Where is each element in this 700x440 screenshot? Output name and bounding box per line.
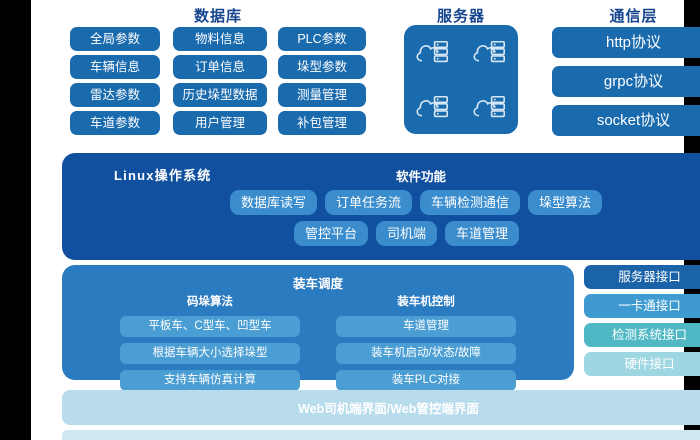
interface-column: 服务器接口 一卡通接口 检测系统接口 硬件接口 — [584, 265, 700, 376]
interface-item-hardware[interactable]: 硬件接口 — [584, 352, 700, 376]
cloud-server-icon — [414, 92, 452, 122]
communication-section-title: 通信层 — [552, 5, 700, 26]
interface-item-detection[interactable]: 检测系统接口 — [584, 323, 700, 347]
scheduling-item[interactable]: 支持车辆仿真计算 — [120, 370, 300, 391]
interface-item-card[interactable]: 一卡通接口 — [584, 294, 700, 318]
database-column-1: 全局参数 车辆信息 雷达参数 车道参数 — [70, 27, 160, 135]
cloud-server-icon — [414, 37, 452, 67]
scheduling-item[interactable]: 装车PLC对接 — [336, 370, 516, 391]
platform-panel: Linux操作系统 软件功能 数据库读写 订单任务流 车辆检测通信 垛型算法 管… — [62, 153, 700, 260]
software-item[interactable]: 垛型算法 — [528, 190, 602, 215]
database-column-2: 物料信息 订单信息 历史垛型数据 用户管理 — [173, 27, 267, 135]
cloud-server-icon — [471, 92, 509, 122]
interface-item-server[interactable]: 服务器接口 — [584, 265, 700, 289]
db-item[interactable]: 车道参数 — [70, 111, 160, 135]
scheduling-item[interactable]: 根据车辆大小选择垛型 — [120, 343, 300, 364]
server-box — [404, 25, 518, 134]
software-function-label: 软件功能 — [396, 166, 446, 185]
scheduling-title: 装车调度 — [62, 273, 574, 292]
software-item[interactable]: 数据库读写 — [230, 190, 317, 215]
software-row-1: 数据库读写 订单任务流 车辆检测通信 垛型算法 — [230, 190, 602, 215]
software-item[interactable]: 订单任务流 — [325, 190, 412, 215]
db-item[interactable]: PLC参数 — [278, 27, 366, 51]
db-item[interactable]: 测量管理 — [278, 83, 366, 107]
scheduling-group-machine-control: 装车机控制 车道管理 装车机启动/状态/故障 装车PLC对接 — [336, 293, 516, 391]
db-item[interactable]: 垛型参数 — [278, 55, 366, 79]
group-heading: 码垛算法 — [120, 293, 300, 309]
software-item[interactable]: 车辆检测通信 — [420, 190, 520, 215]
software-item[interactable]: 司机端 — [376, 221, 437, 246]
scheduling-item[interactable]: 平板车、C型车、凹型车 — [120, 316, 300, 337]
scheduling-item[interactable]: 车道管理 — [336, 316, 516, 337]
database-section-title: 数据库 — [70, 5, 366, 26]
scheduling-group-stacking: 码垛算法 平板车、C型车、凹型车 根据车辆大小选择垛型 支持车辆仿真计算 — [120, 293, 300, 391]
db-item[interactable]: 历史垛型数据 — [173, 83, 267, 107]
comm-item-socket[interactable]: socket协议 — [552, 105, 700, 136]
software-item[interactable]: 车道管理 — [445, 221, 519, 246]
software-row-2: 管控平台 司机端 车道管理 — [294, 221, 519, 246]
database-column-3: PLC参数 垛型参数 测量管理 补包管理 — [278, 27, 366, 135]
db-item[interactable]: 全局参数 — [70, 27, 160, 51]
scheduling-panel: 装车调度 码垛算法 平板车、C型车、凹型车 根据车辆大小选择垛型 支持车辆仿真计… — [62, 265, 574, 380]
scheduling-item[interactable]: 装车机启动/状态/故障 — [336, 343, 516, 364]
db-item[interactable]: 雷达参数 — [70, 83, 160, 107]
db-item[interactable]: 补包管理 — [278, 111, 366, 135]
comm-item-http[interactable]: http协议 — [552, 27, 700, 58]
os-label: Linux操作系统 — [114, 165, 211, 184]
db-item[interactable]: 物料信息 — [173, 27, 267, 51]
communication-column: http协议 grpc协议 socket协议 — [552, 27, 700, 136]
server-section-title: 服务器 — [404, 5, 518, 26]
db-item[interactable]: 订单信息 — [173, 55, 267, 79]
bottom-strip — [62, 430, 700, 440]
comm-item-grpc[interactable]: grpc协议 — [552, 66, 700, 97]
diagram-canvas: 数据库 服务器 通信层 全局参数 车辆信息 雷达参数 车道参数 物料信息 订单信… — [31, 0, 684, 440]
cloud-server-icon — [471, 37, 509, 67]
web-interface-bar[interactable]: Web司机端界面/Web管控端界面 — [62, 390, 700, 425]
db-item[interactable]: 车辆信息 — [70, 55, 160, 79]
db-item[interactable]: 用户管理 — [173, 111, 267, 135]
group-heading: 装车机控制 — [336, 293, 516, 309]
software-item[interactable]: 管控平台 — [294, 221, 368, 246]
